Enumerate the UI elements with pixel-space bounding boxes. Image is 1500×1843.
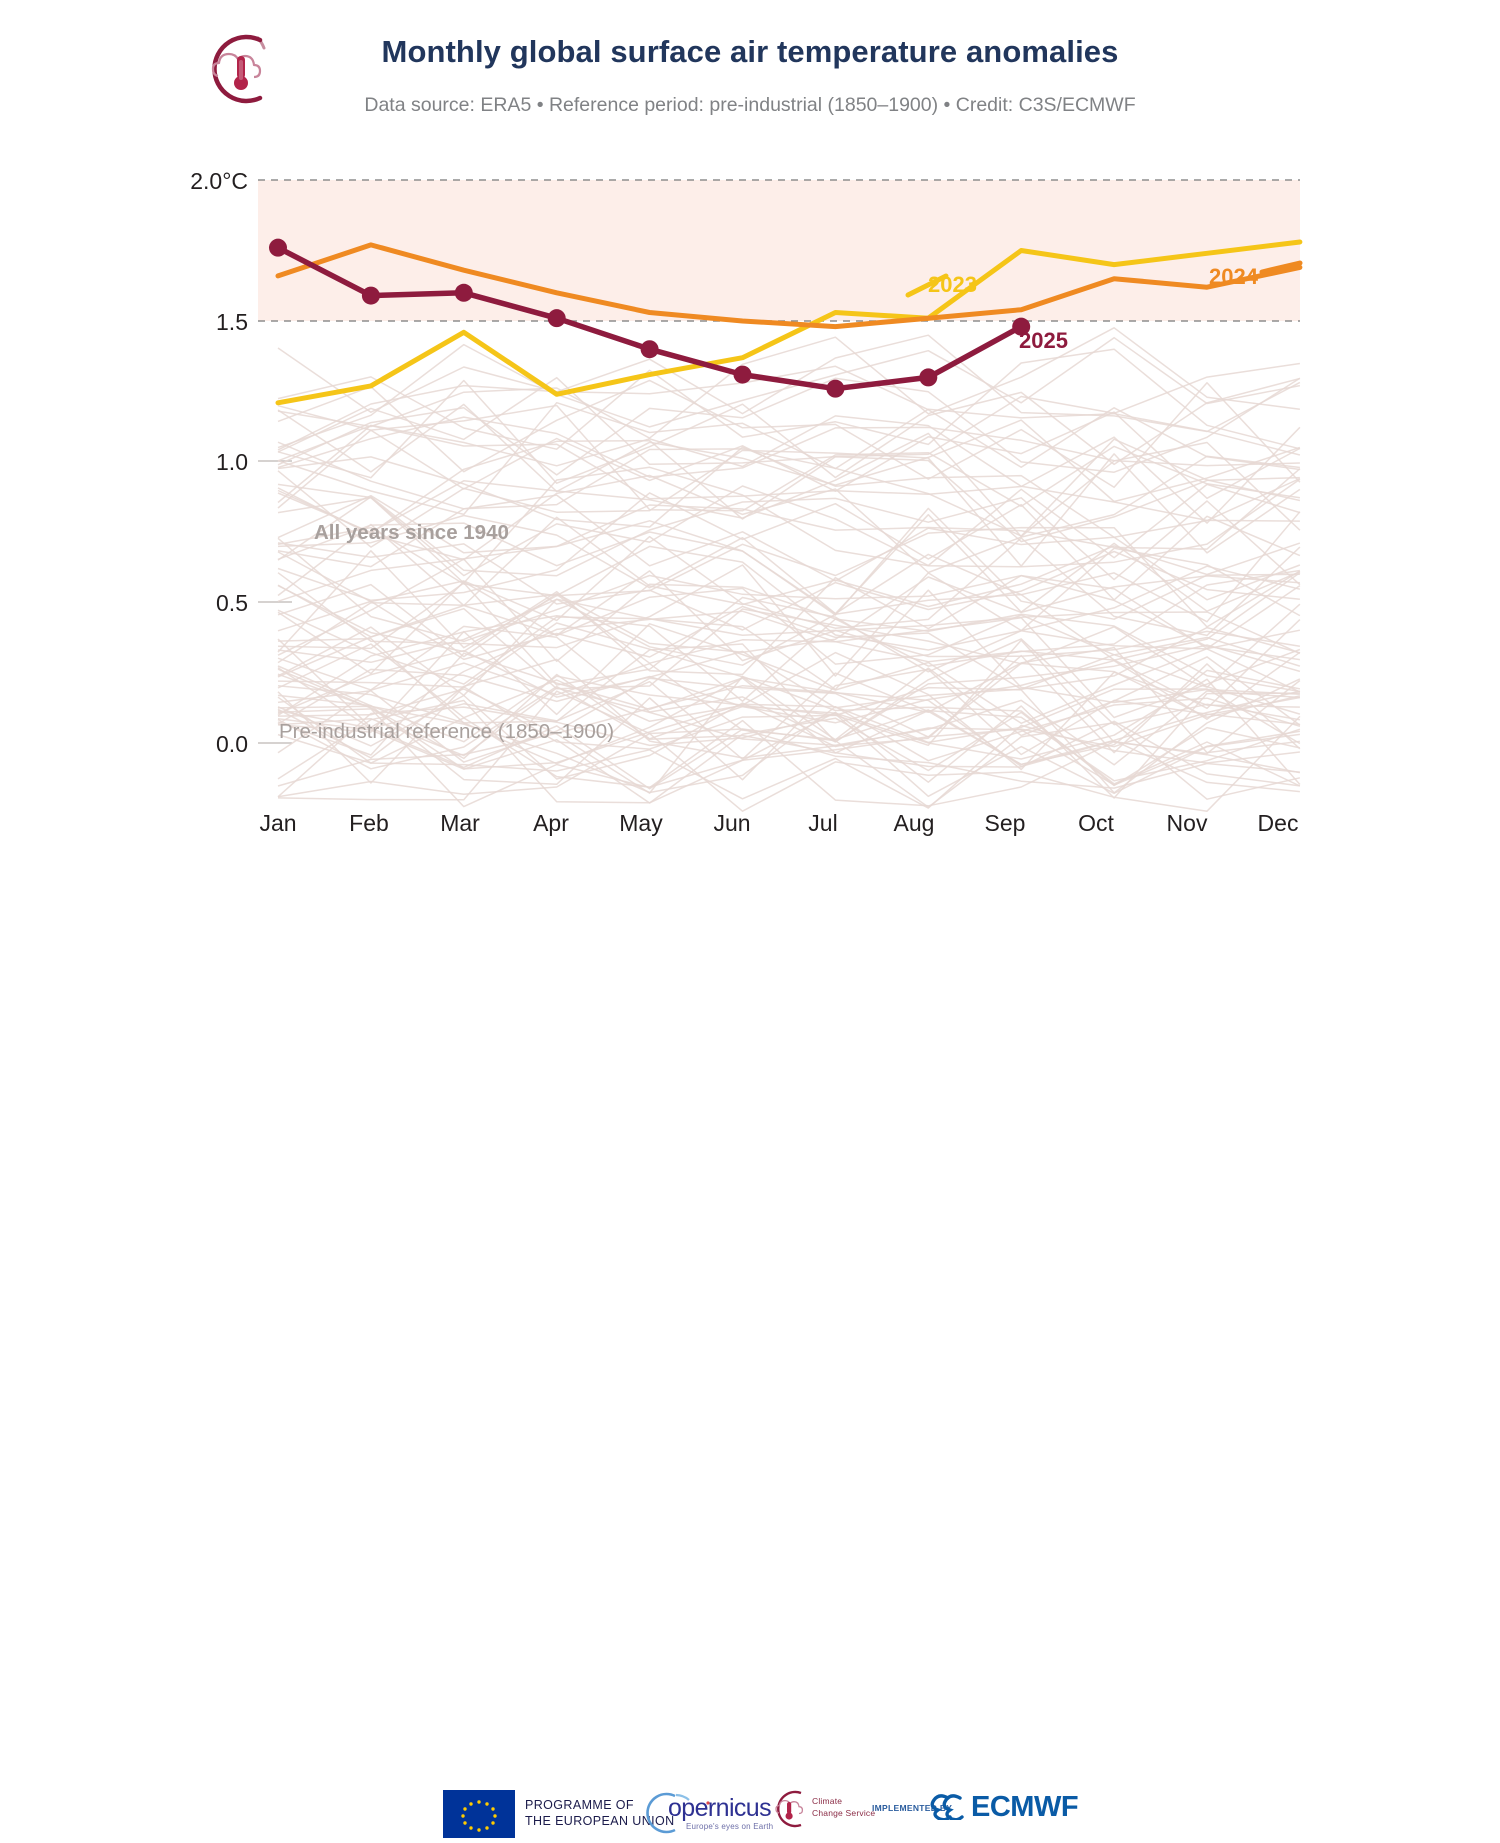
shaded-band-1_5-to-2_0 bbox=[258, 180, 1300, 321]
y-axis-tick-0_0: 0.0 bbox=[168, 731, 248, 758]
eu-flag-icon bbox=[443, 1790, 515, 1838]
data-point-2025-Jun bbox=[734, 366, 752, 384]
ecmwf-mark-icon bbox=[930, 1792, 970, 1820]
c3s-line1: Climate bbox=[812, 1796, 875, 1808]
x-axis-tick-dec: Dec bbox=[1233, 810, 1323, 837]
data-point-2025-Aug bbox=[919, 368, 937, 386]
series-label-2023: 2023 bbox=[928, 272, 977, 298]
copernicus-wordmark: opernicus bbox=[668, 1794, 771, 1823]
data-point-2025-Mar bbox=[455, 284, 473, 302]
data-point-2025-Jul bbox=[826, 380, 844, 398]
background-year-line bbox=[278, 614, 1300, 715]
x-axis-tick-sep: Sep bbox=[960, 810, 1050, 837]
c3s-logo-icon bbox=[765, 1786, 811, 1832]
x-axis-tick-oct: Oct bbox=[1051, 810, 1141, 837]
x-axis-tick-jan: Jan bbox=[233, 810, 323, 837]
x-axis-tick-jun: Jun bbox=[687, 810, 777, 837]
data-point-2025-May bbox=[641, 340, 659, 358]
x-axis-tick-nov: Nov bbox=[1142, 810, 1232, 837]
y-axis-tick-1_5: 1.5 bbox=[168, 309, 248, 336]
y-axis-tick-1_0: 1.0 bbox=[168, 449, 248, 476]
x-axis-tick-aug: Aug bbox=[869, 810, 959, 837]
c3s-wordmark: Climate Change Service bbox=[812, 1796, 875, 1819]
background-year-line bbox=[278, 349, 1300, 449]
y-axis-tick-0_5: 0.5 bbox=[168, 590, 248, 617]
data-point-2025-Feb bbox=[362, 287, 380, 305]
x-axis-tick-feb: Feb bbox=[324, 810, 414, 837]
x-axis-tick-jul: Jul bbox=[778, 810, 868, 837]
x-axis-tick-may: May bbox=[596, 810, 686, 837]
x-axis-tick-mar: Mar bbox=[415, 810, 505, 837]
y-axis-tick-2_0: 2.0°C bbox=[168, 168, 248, 195]
x-axis-tick-apr: Apr bbox=[506, 810, 596, 837]
annotation-all-years: All years since 1940 bbox=[314, 521, 509, 545]
chart-plot-area: 2.0°C 1.5 1.0 0.5 0.0 Jan Feb Mar Apr Ma… bbox=[0, 0, 1500, 1000]
copernicus-tagline: Europe's eyes on Earth bbox=[686, 1822, 773, 1831]
line-chart-canvas bbox=[0, 0, 1500, 1000]
annotation-pre-industrial: Pre-industrial reference (1850–1900) bbox=[279, 720, 614, 744]
footer-logos: PROGRAMME OF THE EUROPEAN UNION opernicu… bbox=[0, 888, 1500, 958]
ecmwf-wordmark: ECMWF bbox=[971, 1791, 1078, 1824]
data-point-2025-Apr bbox=[548, 309, 566, 327]
series-label-2025: 2025 bbox=[1019, 328, 1068, 354]
data-point-2025-Jan bbox=[269, 239, 287, 257]
series-label-2024: 2024 bbox=[1209, 264, 1258, 290]
c3s-line2: Change Service bbox=[812, 1808, 875, 1820]
